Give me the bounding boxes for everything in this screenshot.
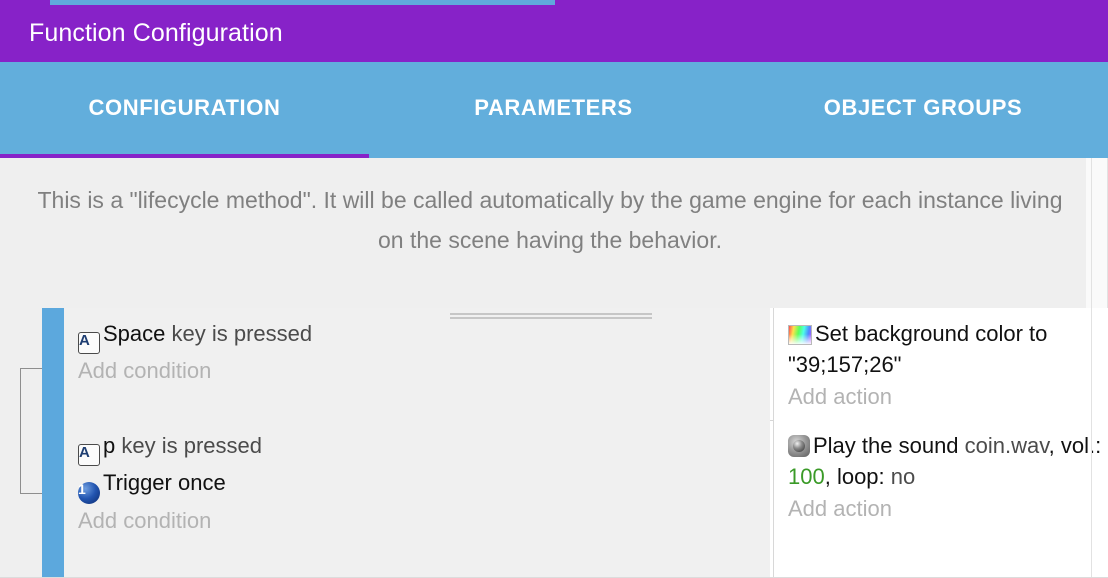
loading-progress-fill — [50, 0, 555, 5]
action-segment: , loop: — [825, 464, 891, 489]
event-drag-handle[interactable] — [42, 308, 64, 420]
add-condition-button[interactable]: Add condition — [78, 355, 770, 386]
action-loop-value: no — [891, 464, 915, 489]
tab-parameters[interactable]: PARAMETERS — [369, 62, 738, 154]
action-item[interactable]: Play the sound coin.wav, vol.: 100, loop… — [788, 430, 1108, 492]
dialog-titlebar: Function Configuration — [0, 0, 1108, 62]
condition-item[interactable]: 1Trigger once — [78, 467, 770, 504]
conditions-column[interactable]: Ap key is pressed 1Trigger once Add cond… — [64, 420, 770, 578]
function-configuration-dialog: Function Configuration CONFIGURATION PAR… — [0, 0, 1108, 578]
conditions-column[interactable]: ASpace key is pressed Add condition — [64, 308, 770, 420]
panel-right-divider — [1091, 158, 1092, 578]
keyboard-key-icon: A — [78, 332, 100, 354]
keyboard-key-icon: A — [78, 444, 100, 466]
add-condition-button[interactable]: Add condition — [78, 505, 770, 536]
loading-progress-bar — [0, 0, 1108, 5]
action-item[interactable]: Set background color to "39;157;26" — [788, 318, 1108, 380]
condition-text: key is pressed — [115, 433, 262, 458]
action-volume-value: 100 — [788, 464, 825, 489]
add-action-button[interactable]: Add action — [788, 381, 1108, 412]
actions-column[interactable]: Set background color to "39;157;26" Add … — [773, 308, 1108, 420]
action-segment: , vol.: — [1049, 433, 1102, 458]
event-gutter — [0, 308, 42, 420]
add-action-button[interactable]: Add action — [788, 493, 1108, 524]
event-drag-handle[interactable] — [42, 420, 64, 578]
speaker-icon — [788, 435, 810, 457]
action-segment: Play the sound — [813, 433, 965, 458]
events-sheet: ASpace key is pressed Add condition Set … — [0, 308, 1108, 578]
trigger-once-icon: 1 — [78, 482, 100, 504]
color-gradient-icon — [788, 325, 812, 345]
condition-text: key is pressed — [165, 321, 312, 346]
tab-configuration[interactable]: CONFIGURATION — [0, 62, 369, 154]
actions-column[interactable]: Play the sound coin.wav, vol.: 100, loop… — [773, 420, 1108, 578]
column-resize-handle[interactable] — [450, 313, 652, 321]
lifecycle-description-panel: This is a "lifecycle method". It will be… — [0, 158, 1108, 308]
event-row: ASpace key is pressed Add condition Set … — [0, 308, 1108, 420]
condition-text: Trigger once — [103, 470, 226, 495]
description-text: This is a "lifecycle method". It will be… — [34, 180, 1066, 260]
tabbar: CONFIGURATION PARAMETERS OBJECT GROUPS — [0, 62, 1108, 158]
active-tab-indicator — [0, 154, 369, 158]
condition-item[interactable]: Ap key is pressed — [78, 430, 770, 466]
event-gutter — [0, 420, 42, 578]
event-row: Ap key is pressed 1Trigger once Add cond… — [0, 420, 1108, 578]
condition-key: Space — [103, 321, 165, 346]
description-right-strip — [1086, 158, 1108, 308]
action-sound-name: coin.wav — [965, 433, 1049, 458]
page-title: Function Configuration — [0, 15, 283, 48]
condition-key: p — [103, 433, 115, 458]
action-text: Set background color to "39;157;26" — [788, 321, 1047, 377]
condition-item[interactable]: ASpace key is pressed — [78, 318, 770, 354]
tab-object-groups[interactable]: OBJECT GROUPS — [738, 62, 1108, 154]
